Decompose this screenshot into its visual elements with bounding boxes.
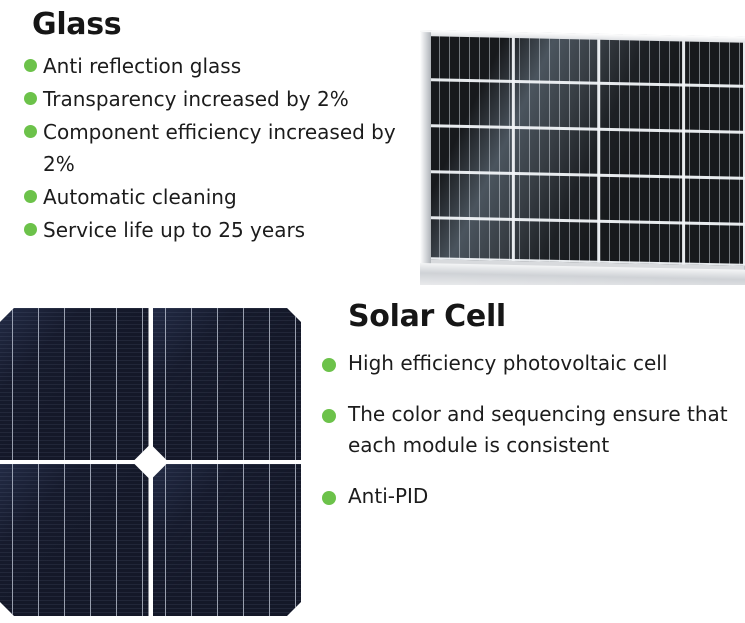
mono-cells-grid	[0, 308, 301, 616]
glass-feature-text-1: Anti reflection glass	[43, 50, 241, 82]
bullet-dot-icon	[322, 358, 336, 372]
glass-feature-block: Glass Anti reflection glass Transparency…	[24, 6, 424, 247]
bullet-dot-icon	[24, 125, 37, 138]
mono-cell-bottom-right	[153, 464, 302, 616]
glass-feature-text-5: Service life up to 25 years	[43, 214, 305, 246]
module-frame	[420, 30, 745, 280]
list-item: High efficiency photovoltaic cell	[322, 348, 742, 379]
list-item: Automatic cleaning	[24, 181, 424, 213]
glass-feature-text-2: Transparency increased by 2%	[43, 83, 349, 115]
solar-cell-feature-block: Solar Cell High efficiency photovoltaic …	[322, 298, 742, 532]
solar-module-photo	[420, 30, 745, 285]
list-item: Component efficiency increased by 2%	[24, 116, 424, 180]
module-cell-grid	[429, 34, 745, 266]
glass-section-title: Glass	[32, 6, 424, 44]
bullet-dot-icon	[322, 409, 336, 423]
solar-cell-feature-text-3: Anti-PID	[348, 481, 428, 512]
solar-cell-feature-text-1: High efficiency photovoltaic cell	[348, 348, 667, 379]
mono-cells-photo	[0, 308, 301, 616]
product-feature-page: Glass Anti reflection glass Transparency…	[0, 0, 745, 623]
bullet-dot-icon	[24, 223, 37, 236]
mono-cell-bottom-left	[0, 464, 149, 616]
list-item: Transparency increased by 2%	[24, 83, 424, 115]
solar-cell-feature-list: High efficiency photovoltaic cell The co…	[322, 348, 742, 512]
bullet-dot-icon	[24, 59, 37, 72]
bullet-dot-icon	[24, 92, 37, 105]
mono-cell-top-right	[153, 308, 302, 460]
mono-cell-top-left	[0, 308, 149, 460]
bullet-dot-icon	[24, 190, 37, 203]
solar-cell-section-title: Solar Cell	[348, 298, 742, 336]
list-item: Anti-PID	[322, 481, 742, 512]
list-item: Anti reflection glass	[24, 50, 424, 82]
solar-cell-feature-text-2: The color and sequencing ensure that eac…	[348, 399, 733, 461]
glass-feature-text-3: Component efficiency increased by 2%	[43, 116, 415, 180]
list-item: Service life up to 25 years	[24, 214, 424, 246]
list-item: The color and sequencing ensure that eac…	[322, 399, 742, 461]
module-frame-left-edge	[420, 32, 431, 272]
module-laminate	[429, 34, 745, 266]
bullet-dot-icon	[322, 491, 336, 505]
glass-feature-list: Anti reflection glass Transparency incre…	[24, 50, 424, 246]
glass-feature-text-4: Automatic cleaning	[43, 181, 237, 213]
